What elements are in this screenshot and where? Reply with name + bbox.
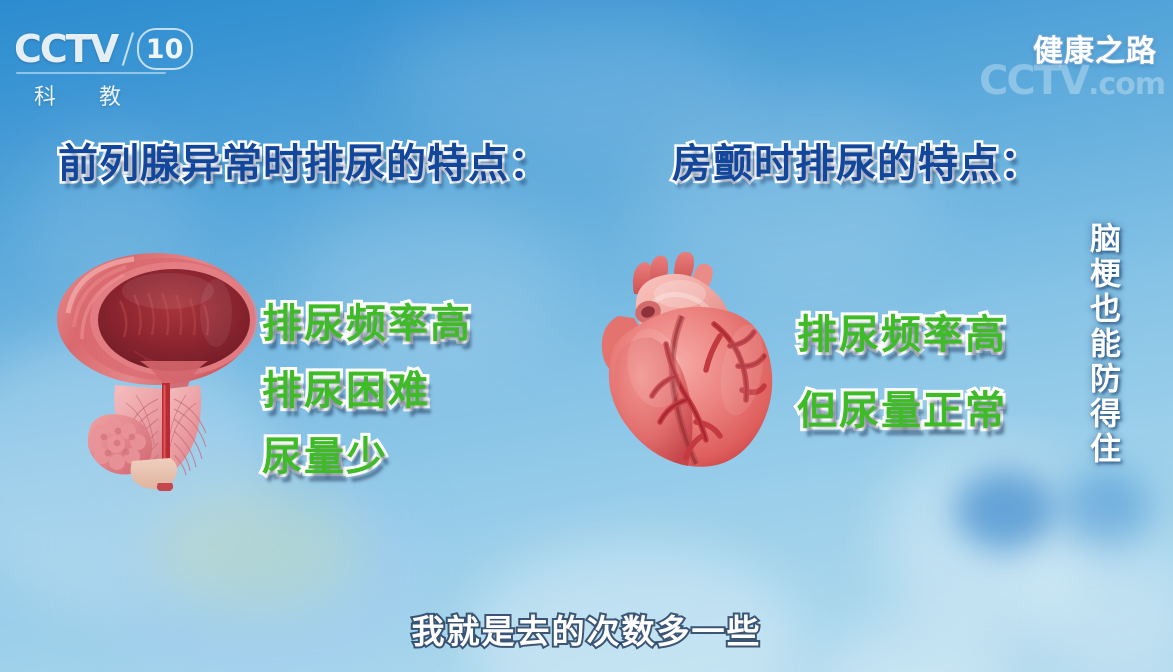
broadcast-screen: CCTV / 10 科 教 健康之路 CCTV.com 前列腺异常时排尿的特点：…	[0, 0, 1173, 672]
background-bokeh	[1060, 470, 1150, 550]
background-bokeh	[955, 470, 1055, 550]
cctv-watermark: CCTV.com	[979, 58, 1165, 104]
prostate-illustration-svg	[48, 243, 273, 491]
left-point-2: 排尿困难	[262, 358, 430, 416]
prostate-illustration	[48, 243, 273, 491]
heart-illustration-svg	[592, 250, 792, 472]
channel-logo-underline	[16, 72, 166, 74]
channel-logo-name: CCTV	[14, 27, 117, 71]
watermark-suffix: .com	[1088, 67, 1165, 102]
right-point-1: 排尿频率高	[797, 302, 1007, 360]
right-point-2: 但尿量正常	[797, 378, 1007, 436]
background-bokeh	[380, 0, 740, 150]
channel-number: 10	[137, 28, 193, 70]
channel-subtitle: 科 教	[14, 79, 204, 111]
channel-logo-slash: /	[121, 26, 134, 72]
heading-right: 房颤时排尿的特点：	[672, 131, 1041, 189]
watermark-main: CCTV	[979, 58, 1088, 104]
closed-caption: 我就是去的次数多一些	[0, 605, 1173, 653]
left-point-1: 排尿频率高	[262, 291, 472, 349]
left-point-3: 尿量少	[262, 424, 388, 482]
background-bokeh	[150, 490, 360, 610]
episode-side-title: 脑梗也能防得住	[1080, 222, 1125, 467]
heading-left: 前列腺异常时排尿的特点：	[58, 131, 550, 189]
heart-illustration	[592, 250, 792, 472]
channel-logo: CCTV / 10 科 教	[14, 26, 204, 112]
background-bokeh	[300, 190, 560, 380]
